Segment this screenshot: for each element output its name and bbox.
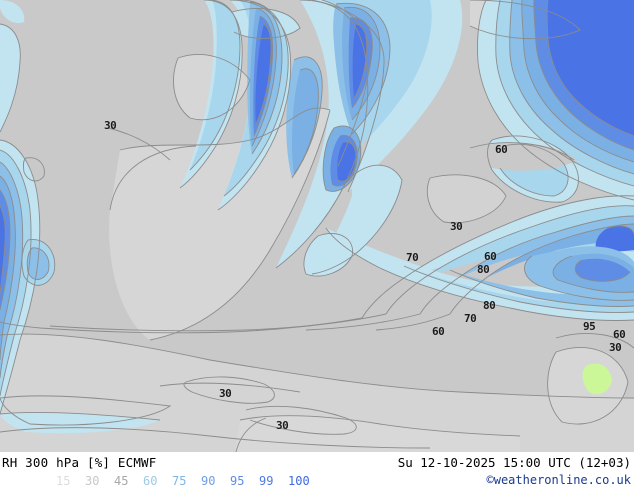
copyright-credit[interactable]: ©weatheronline.co.uk xyxy=(487,473,632,487)
forecast-timestamp: Su 12-10-2025 15:00 UTC (12+03) xyxy=(398,455,631,470)
contour-label: 80 xyxy=(483,300,495,311)
contour-label: 60 xyxy=(484,251,496,262)
weather-map[interactable]: 30 60 30 70 60 80 80 70 60 95 60 30 30 3… xyxy=(0,0,634,452)
contour-label: 95 xyxy=(583,321,595,332)
map-title: RH 300 hPa [%] ECMWF xyxy=(2,455,157,470)
contour-label: 30 xyxy=(276,420,288,431)
contour-label: 70 xyxy=(464,313,476,324)
color-scale-legend[interactable]: 15 30 45 60 75 90 95 99 100 xyxy=(56,474,317,488)
contour-label: 30 xyxy=(219,388,231,399)
weather-map-page: 30 60 30 70 60 80 80 70 60 95 60 30 30 3… xyxy=(0,0,634,490)
color-scale-tick: 30 xyxy=(85,474,114,488)
map-raster xyxy=(0,0,634,452)
contour-label: 80 xyxy=(477,264,489,275)
contour-label: 30 xyxy=(104,120,116,131)
color-scale-tick: 95 xyxy=(230,474,259,488)
color-scale-tick: 60 xyxy=(143,474,172,488)
map-footer: RH 300 hPa [%] ECMWF 15 30 45 60 75 90 9… xyxy=(0,452,634,490)
color-scale-tick: 15 xyxy=(56,474,85,488)
color-scale-tick: 90 xyxy=(201,474,230,488)
color-scale-tick: 100 xyxy=(288,474,317,488)
color-scale-tick: 99 xyxy=(259,474,288,488)
contour-label: 30 xyxy=(609,342,621,353)
contour-label: 70 xyxy=(406,252,418,263)
contour-label: 60 xyxy=(432,326,444,337)
color-scale-tick: 45 xyxy=(114,474,143,488)
contour-label: 30 xyxy=(450,221,462,232)
contour-label: 60 xyxy=(495,144,507,155)
color-scale-tick: 75 xyxy=(172,474,201,488)
contour-label: 60 xyxy=(613,329,625,340)
